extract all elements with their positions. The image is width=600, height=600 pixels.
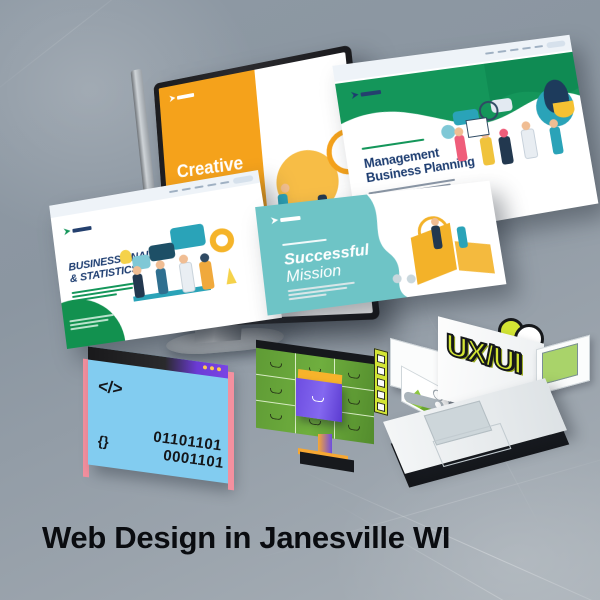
- chat-bubble-icon: [170, 223, 207, 250]
- illustration-plant: [224, 267, 237, 285]
- illustration-document: [465, 117, 489, 138]
- nav-item[interactable]: [207, 183, 216, 186]
- window-traffic-lights[interactable]: [203, 365, 221, 371]
- nav-item[interactable]: [182, 187, 191, 190]
- logo-wordmark: [72, 225, 91, 232]
- logo-mark-icon: [169, 95, 175, 103]
- nav-item[interactable]: [169, 189, 178, 192]
- nav-item[interactable]: [194, 185, 203, 188]
- analysis-logo[interactable]: [64, 224, 92, 235]
- tool-icon[interactable]: [377, 402, 385, 412]
- nav-item[interactable]: [220, 181, 229, 184]
- illustration-person: [132, 273, 145, 298]
- tool-icon[interactable]: [377, 378, 385, 388]
- poster-canvas: Creative Solutions: [0, 0, 600, 600]
- tool-icon[interactable]: [377, 390, 385, 400]
- drawer-handle-icon[interactable]: [312, 396, 324, 403]
- logo-mark-icon: [271, 216, 279, 224]
- traffic-dot-icon[interactable]: [217, 367, 221, 372]
- tool-palette[interactable]: [374, 348, 388, 416]
- illustration-table: [133, 285, 211, 302]
- code-tag-icon: </>: [97, 376, 124, 399]
- tool-icon[interactable]: [377, 366, 385, 376]
- window-right-edge: [228, 372, 234, 491]
- open-drawer[interactable]: [296, 378, 342, 422]
- logo-wordmark: [360, 89, 381, 96]
- logo-mark-icon: [64, 227, 71, 235]
- analysis-search-button[interactable]: [233, 175, 254, 184]
- ux-ui-laptop[interactable]: UX/UI: [386, 322, 574, 474]
- page-title: Web Design in Janesville WI: [42, 520, 450, 556]
- file-cabinet[interactable]: [256, 346, 380, 474]
- code-browser-window[interactable]: </> {} 01101101 0001101: [88, 356, 228, 474]
- tool-icon[interactable]: [377, 354, 385, 364]
- curly-braces-icon: {}: [97, 432, 110, 449]
- logo-wordmark: [280, 215, 301, 221]
- traffic-dot-icon[interactable]: [210, 366, 214, 371]
- illustration-person: [155, 268, 168, 295]
- logo-mark-icon: [351, 91, 359, 99]
- traffic-dot-icon[interactable]: [203, 365, 207, 370]
